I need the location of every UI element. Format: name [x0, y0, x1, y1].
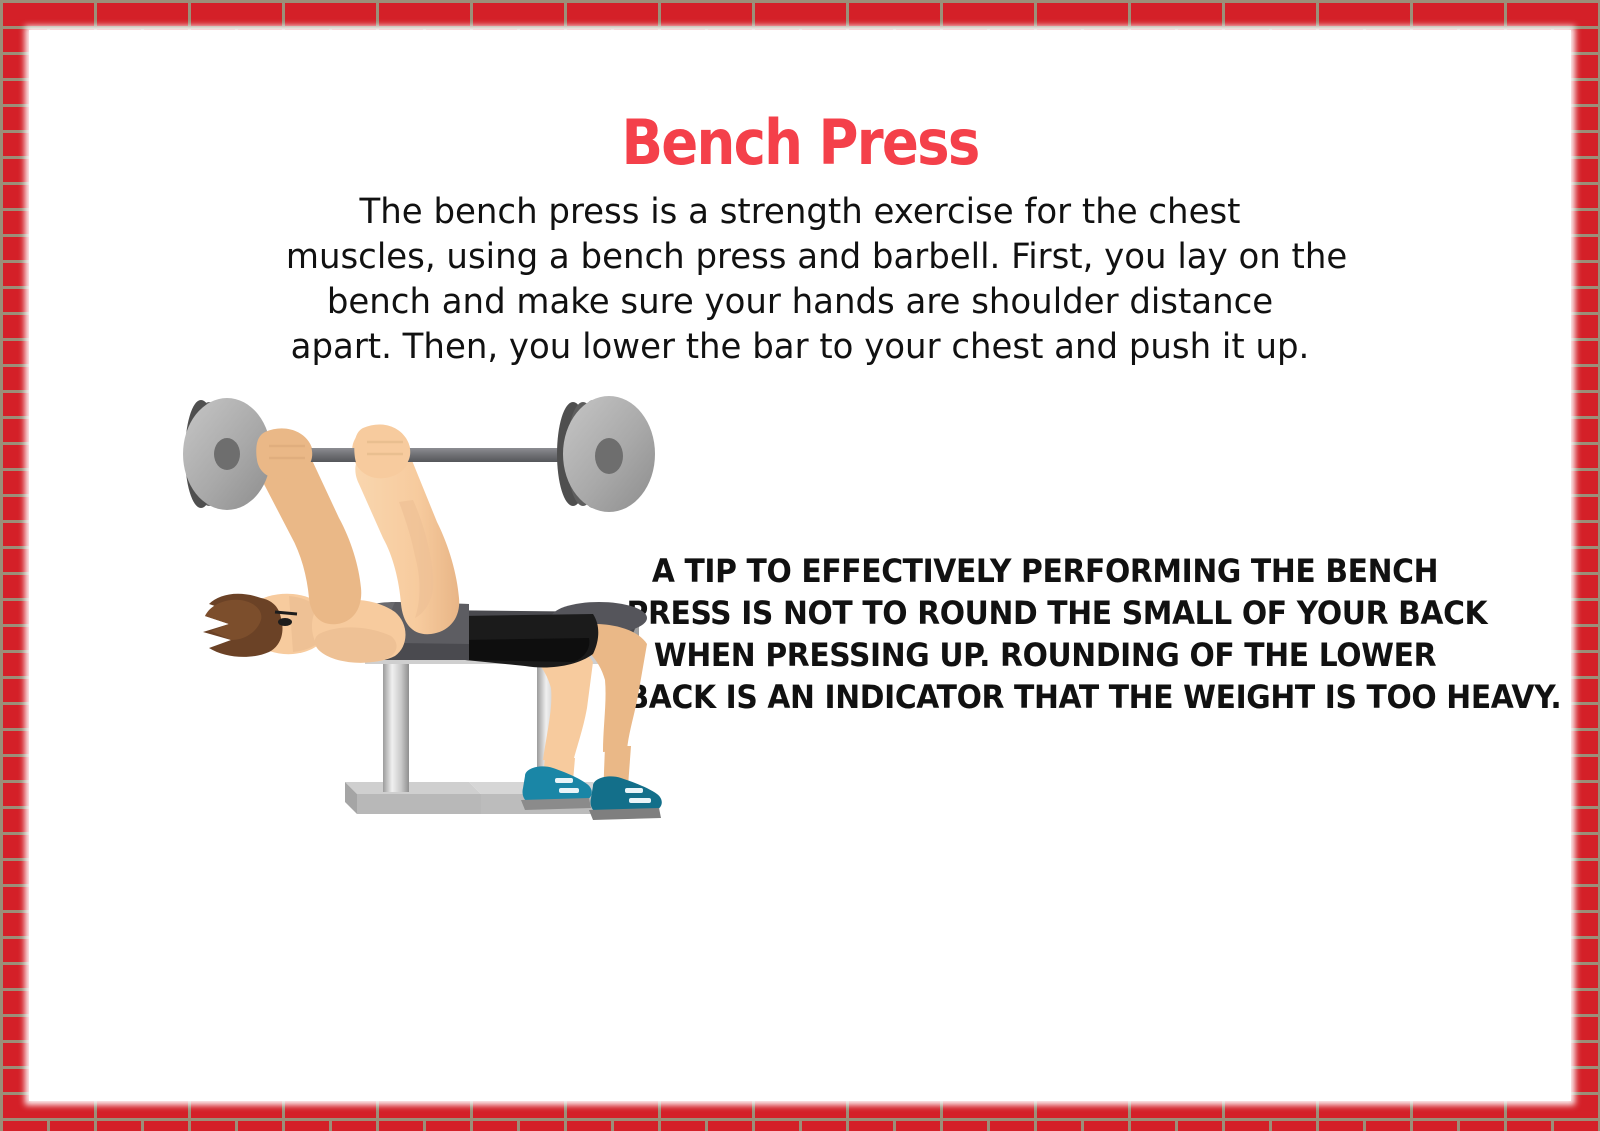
page-title: Bench Press — [122, 112, 1479, 174]
description-line: The bench press is a strength exercise f… — [286, 190, 1314, 235]
description-line: apart. Then, you lower the bar to your c… — [286, 325, 1314, 370]
tip-line: WHEN PRESSING UP. ROUNDING OF THE LOWER — [627, 634, 1464, 676]
tip-text: A TIP TO EFFECTIVELY PERFORMING THE BENC… — [595, 550, 1495, 718]
content-card: Bench Press The bench press is a strengt… — [29, 30, 1571, 1101]
description-text: The bench press is a strength exercise f… — [270, 190, 1330, 370]
tip-line: PRESS IS NOT TO ROUND THE SMALL OF YOUR … — [627, 592, 1464, 634]
bench-press-illustration-icon — [169, 390, 669, 850]
shorts — [461, 614, 598, 668]
tip-line: BACK IS AN INDICATOR THAT THE WEIGHT IS … — [627, 676, 1464, 718]
bench-press-poster: Bench Press The bench press is a strengt… — [0, 0, 1600, 1131]
tip-line: A TIP TO EFFECTIVELY PERFORMING THE BENC… — [627, 550, 1464, 592]
description-line: bench and make sure your hands are shoul… — [286, 280, 1314, 325]
description-line: muscles, using a bench press and barbell… — [286, 235, 1314, 280]
